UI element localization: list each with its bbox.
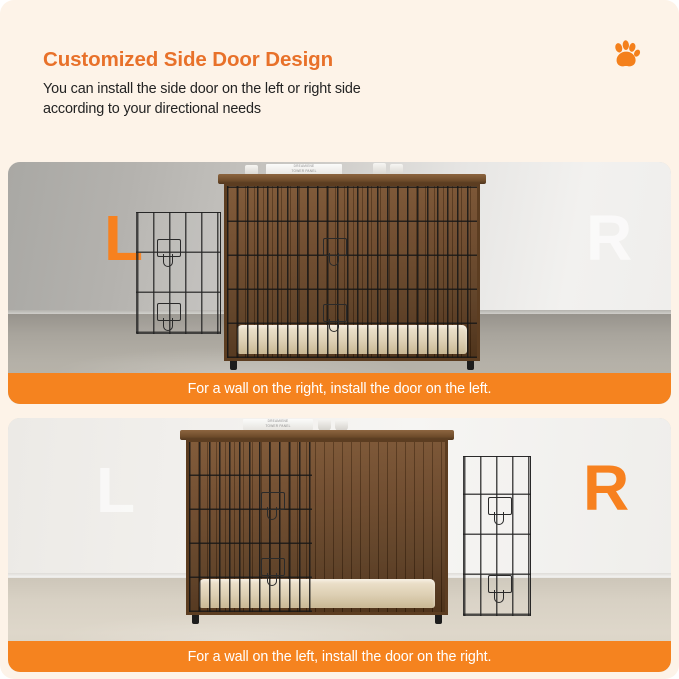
caption-text: For a wall on the left, install the door… — [188, 649, 492, 665]
subtitle-line-1: You can install the side door on the lef… — [43, 79, 563, 99]
header: Customized Side Door Design You can inst… — [0, 0, 679, 158]
product-package-box: DREAMIENE TOWER PANEL — [243, 419, 313, 430]
marker-letter-right-ghost: R — [586, 206, 632, 270]
crate-leg — [467, 361, 474, 370]
dog-crate-furniture — [186, 430, 448, 620]
door-latch-lower — [488, 575, 512, 593]
crate-latch-upper — [323, 238, 347, 256]
header-text-block: Customized Side Door Design You can inst… — [43, 48, 563, 120]
detached-side-door-panel — [136, 212, 221, 334]
crate-latch-lower — [261, 558, 285, 576]
package-label-line-2: TOWER PANEL — [243, 424, 313, 429]
caption-text: For a wall on the right, install the doo… — [188, 381, 492, 397]
door-latch-upper — [157, 239, 181, 257]
paw-print-icon — [609, 38, 643, 72]
detached-side-door-panel — [463, 456, 531, 616]
panel-door-right: L R DREAMIENE TOWER PANEL — [8, 418, 671, 672]
crate-leg — [435, 615, 442, 624]
subtitle-line-2: according to your directional needs — [43, 99, 563, 119]
crate-front-mesh — [227, 186, 477, 358]
door-latch-lower — [157, 303, 181, 321]
crate-front-mesh — [189, 442, 312, 612]
panel-door-left: R L DREAMIENE TOWER PANEL — [8, 162, 671, 404]
door-latch-upper — [488, 497, 512, 515]
caption-bar-door-left: For a wall on the right, install the doo… — [8, 373, 671, 404]
product-photo-door-right: L R DREAMIENE TOWER PANEL — [8, 418, 671, 672]
crate-latch-lower — [323, 304, 347, 322]
caption-bar-door-right: For a wall on the left, install the door… — [8, 641, 671, 672]
marker-letter-left-ghost: L — [96, 458, 135, 522]
page-subtitle: You can install the side door on the lef… — [43, 79, 563, 120]
crate-body — [186, 439, 448, 615]
page-title: Customized Side Door Design — [43, 48, 563, 73]
crate-latch-upper — [261, 492, 285, 510]
infographic-card: Customized Side Door Design You can inst… — [0, 0, 679, 679]
crate-body — [224, 183, 480, 361]
crate-leg — [192, 615, 199, 624]
marker-letter-right-active: R — [583, 456, 629, 520]
dog-crate-furniture — [224, 174, 480, 366]
crate-leg — [230, 361, 237, 370]
product-photo-door-left: R L DREAMIENE TOWER PANEL — [8, 162, 671, 404]
